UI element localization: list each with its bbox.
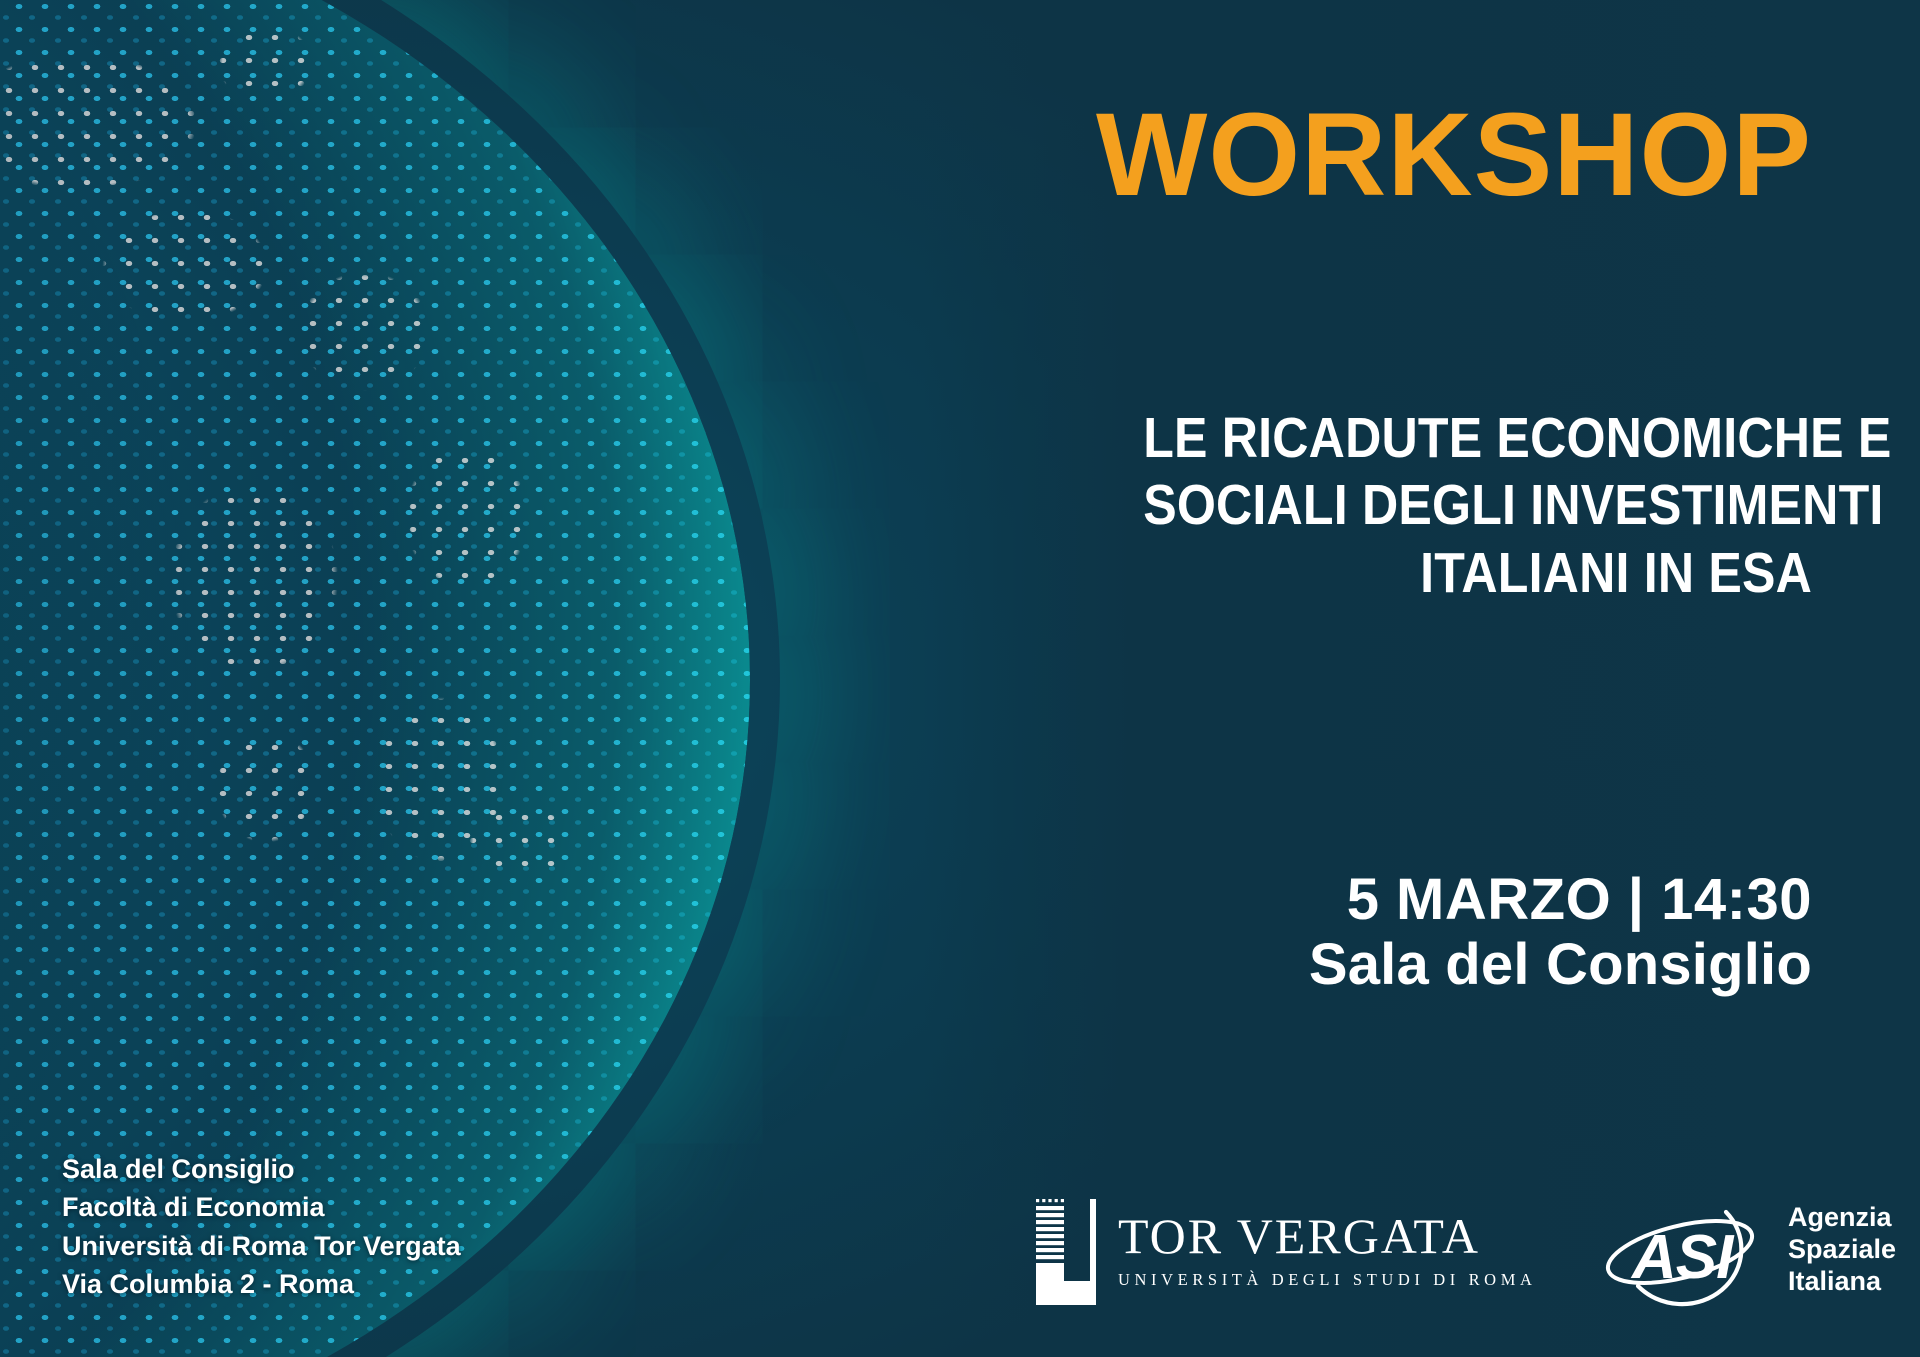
tor-vergata-wordmark: TOR VERGATA UNIVERSITÀ DEGLI STUDI DI RO… <box>1118 1211 1536 1290</box>
venue-address: Sala del Consiglio Facoltà di Economia U… <box>62 1150 461 1303</box>
event-poster: WORKSHOP LE RICADUTE ECONOMICHE E SOCIAL… <box>0 0 1920 1357</box>
venue-line-3: Università di Roma Tor Vergata <box>62 1227 461 1265</box>
tor-vergata-subtitle: UNIVERSITÀ DEGLI STUDI DI ROMA <box>1118 1270 1536 1290</box>
asi-wordmark: Agenzia Spaziale Italiana <box>1788 1202 1896 1298</box>
asi-orbit-mark: ASI <box>1594 1190 1774 1310</box>
venue-line-2: Facoltà di Economia <box>62 1188 461 1226</box>
svg-text:ASI: ASI <box>1630 1223 1735 1292</box>
asi-line-3: Italiana <box>1788 1266 1896 1298</box>
tor-vergata-u-mark <box>1034 1195 1096 1305</box>
venue-line-1: Sala del Consiglio <box>62 1150 461 1188</box>
title-line-1: LE RICADUTE ECONOMICHE E <box>1143 405 1812 472</box>
event-datetime-block: 5 MARZO | 14:30 Sala del Consiglio <box>1309 868 1812 998</box>
tor-vergata-logo: TOR VERGATA UNIVERSITÀ DEGLI STUDI DI RO… <box>1034 1195 1536 1305</box>
asi-logo: ASI Agenzia Spaziale Italiana <box>1594 1190 1896 1310</box>
poster-headline: WORKSHOP <box>1096 96 1812 214</box>
tor-vergata-name: TOR VERGATA <box>1118 1211 1536 1261</box>
asi-line-1: Agenzia <box>1788 1202 1896 1234</box>
title-line-2: SOCIALI DEGLI INVESTIMENTI <box>1143 472 1812 539</box>
event-room: Sala del Consiglio <box>1309 933 1812 998</box>
asi-line-2: Spaziale <box>1788 1234 1896 1266</box>
title-line-3: ITALIANI IN ESA <box>1143 540 1812 607</box>
poster-title: LE RICADUTE ECONOMICHE E SOCIALI DEGLI I… <box>1143 405 1812 607</box>
venue-line-4: Via Columbia 2 - Roma <box>62 1265 461 1303</box>
event-date-time: 5 MARZO | 14:30 <box>1309 868 1812 933</box>
